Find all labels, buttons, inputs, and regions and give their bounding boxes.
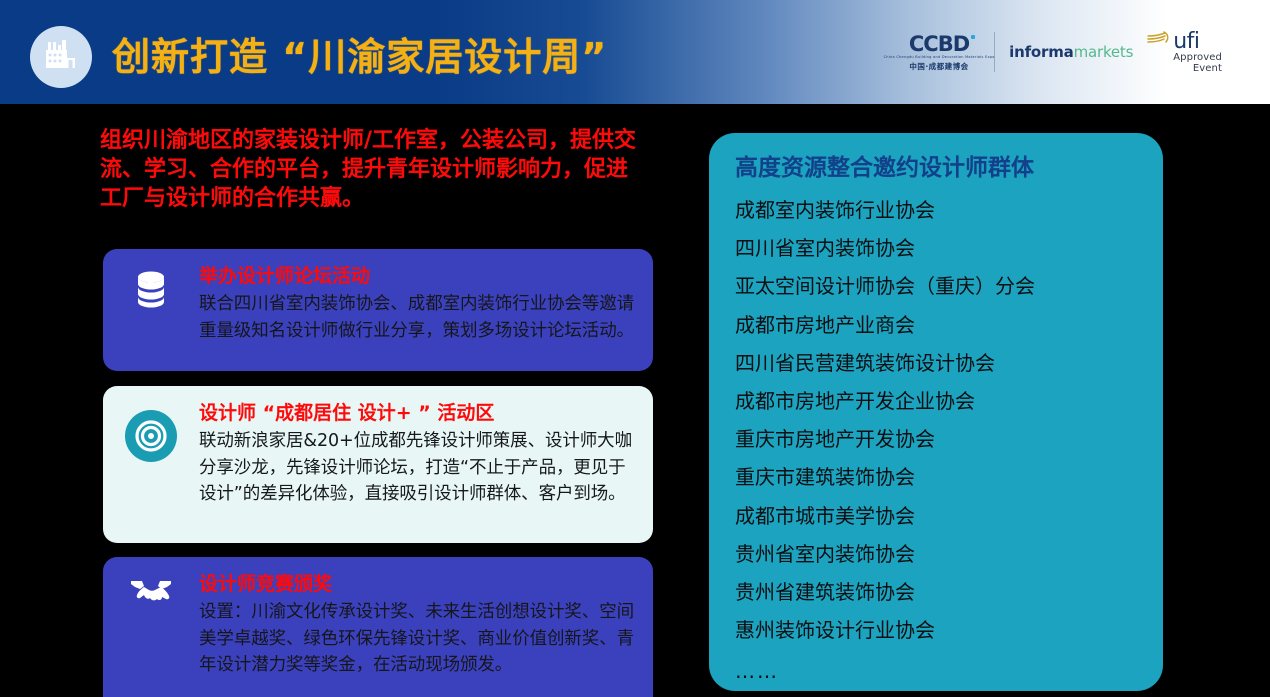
- list-item: 四川省民营建筑装饰设计协会: [735, 344, 1137, 382]
- informa-markets-logo: informamarkets: [1009, 43, 1133, 61]
- card-icon-slot: [103, 249, 199, 371]
- ccbd-chinese-sub: 中国·成都建博会: [909, 63, 968, 71]
- card-body: 设计师 “成都居住 设计+ ” 活动区 联动新浪家居&20+位成都先锋设计师策展…: [199, 386, 653, 543]
- factory-icon: [44, 40, 78, 74]
- header-logo-badge: [30, 26, 92, 88]
- list-item: 四川省室内装饰协会: [735, 229, 1137, 267]
- ufi-event-label: Event: [1173, 64, 1222, 75]
- card-text: 联合四川省室内装饰协会、成都室内装饰行业协会等邀请重量级知名设计师做行业分享，策…: [199, 291, 639, 344]
- ccbd-english-sub: China Chengdu Building and Decoration Ma…: [883, 56, 994, 60]
- card-text: 联动新浪家居&20+位成都先锋设计师策展、设计师大咖分享沙龙，先锋设计师论坛，打…: [199, 428, 639, 508]
- slide-root: 创新打造 “川渝家居设计周” CCBD China Chengdu Buildi…: [0, 0, 1270, 697]
- list-item: 成都室内装饰行业协会: [735, 191, 1137, 229]
- informa-word: informa: [1009, 43, 1073, 61]
- list-item: 贵州省室内装饰协会: [735, 535, 1137, 573]
- card-text: 设置：川渝文化传承设计奖、未来生活创想设计奖、空间美学卓越奖、绿色环保先锋设计奖…: [199, 599, 639, 679]
- list-item: 成都市房地产业商会: [735, 306, 1137, 344]
- list-item: 重庆市建筑装饰协会: [735, 458, 1137, 496]
- ufi-swoosh-icon: [1147, 30, 1171, 54]
- card-title: 设计师 “成都居住 设计+ ” 活动区: [199, 400, 639, 426]
- target-icon: [125, 410, 177, 462]
- info-card-activity-zone: 设计师 “成都居住 设计+ ” 活动区 联动新浪家居&20+位成都先锋设计师策展…: [103, 386, 653, 543]
- ccbd-wordmark: CCBD: [909, 34, 969, 55]
- association-list: 成都室内装饰行业协会四川省室内装饰协会亚太空间设计师协会（重庆）分会成都市房地产…: [735, 191, 1137, 649]
- info-card-awards: 设计师竞赛颁奖 设置：川渝文化传承设计奖、未来生活创想设计奖、空间美学卓越奖、绿…: [103, 557, 653, 697]
- list-item: 重庆市房地产开发协会: [735, 420, 1137, 458]
- list-item: 成都市房地产开发企业协会: [735, 382, 1137, 420]
- ufi-logo: ufi Approved Event: [1147, 30, 1222, 74]
- resources-panel: 高度资源整合邀约设计师群体 成都室内装饰行业协会四川省室内装饰协会亚太空间设计师…: [709, 133, 1163, 691]
- ccbd-logo: CCBD China Chengdu Building and Decorati…: [898, 34, 980, 70]
- card-body: 设计师竞赛颁奖 设置：川渝文化传承设计奖、未来生活创想设计奖、空间美学卓越奖、绿…: [199, 557, 653, 697]
- card-icon-slot: [103, 557, 199, 697]
- card-icon-slot: [103, 386, 199, 543]
- logo-divider: [994, 32, 995, 72]
- card-title: 设计师竞赛颁奖: [199, 571, 639, 597]
- partner-logo-cluster: CCBD China Chengdu Building and Decorati…: [898, 28, 1222, 76]
- handshake-icon: [129, 577, 173, 617]
- page-title: 创新打造 “川渝家居设计周”: [112, 33, 607, 81]
- info-card-forum: 举办设计师论坛活动 联合四川省室内装饰协会、成都室内装饰行业协会等邀请重量级知名…: [103, 249, 653, 371]
- panel-ellipsis: ……: [735, 659, 1137, 683]
- database-icon: [133, 269, 169, 313]
- card-title: 举办设计师论坛活动: [199, 263, 639, 289]
- ufi-approved-label: Approved: [1173, 53, 1222, 64]
- list-item: 亚太空间设计师协会（重庆）分会: [735, 267, 1137, 305]
- panel-title: 高度资源整合邀约设计师群体: [735, 151, 1137, 185]
- slide-header: 创新打造 “川渝家居设计周” CCBD China Chengdu Buildi…: [0, 0, 1270, 104]
- list-item: 贵州省建筑装饰协会: [735, 573, 1137, 611]
- intro-paragraph: 组织川渝地区的家装设计师/工作室，公装公司，提供交流、学习、合作的平台，提升青年…: [100, 126, 648, 213]
- markets-word: markets: [1074, 43, 1134, 61]
- list-item: 成都市城市美学协会: [735, 497, 1137, 535]
- ccbd-wordmark-text: CCBD: [909, 32, 969, 56]
- ufi-wordmark: ufi: [1173, 30, 1222, 53]
- ccbd-dot-icon: [971, 35, 975, 39]
- list-item: 惠州装饰设计行业协会: [735, 611, 1137, 649]
- card-body: 举办设计师论坛活动 联合四川省室内装饰协会、成都室内装饰行业协会等邀请重量级知名…: [199, 249, 653, 371]
